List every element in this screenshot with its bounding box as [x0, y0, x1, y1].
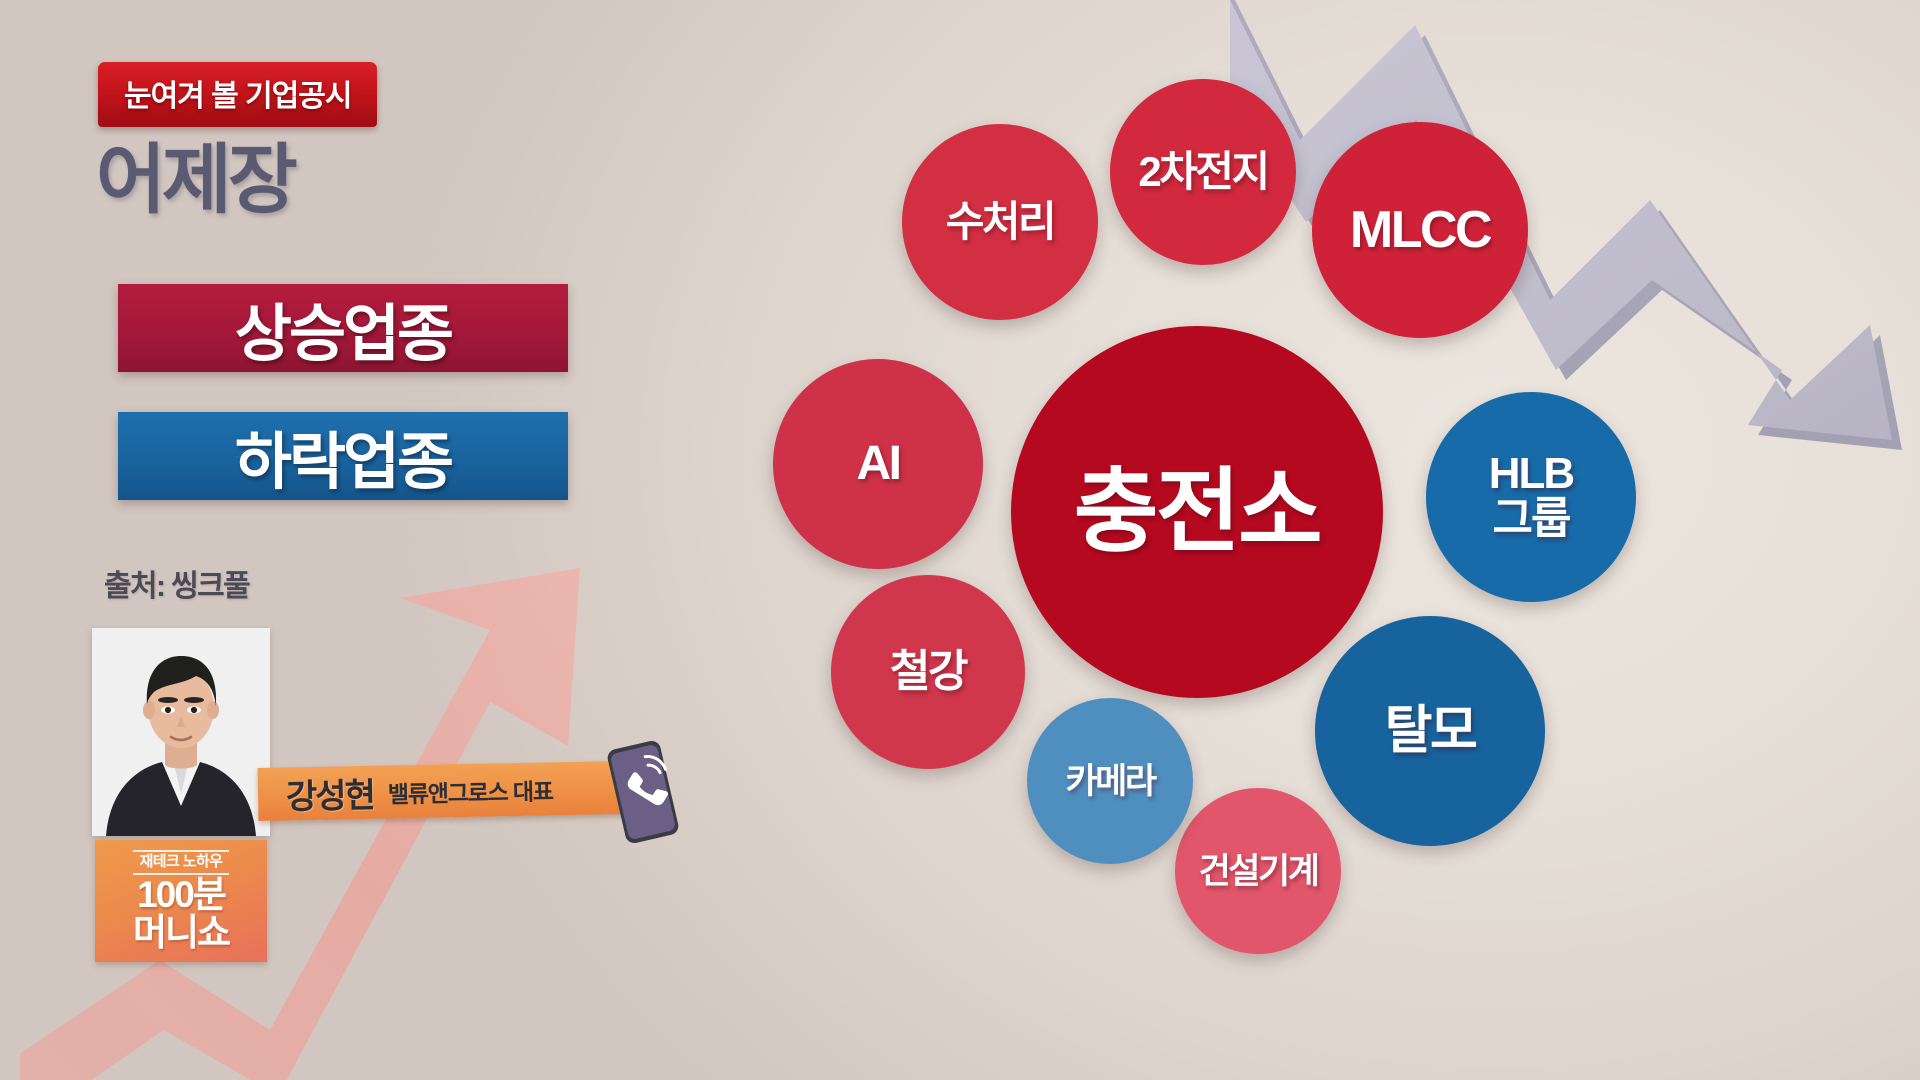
bubble-label: 수처리 — [940, 201, 1060, 243]
sector-bubble-chart: 수처리2차전지MLCCAI충전소철강건설기계HLB그룹탈모카메라 — [0, 0, 1920, 1080]
bubble-label: 건설기계 — [1193, 854, 1324, 889]
bubble-label: MLCC — [1344, 204, 1496, 256]
broadcast-graphic-stage: 눈여겨 볼 기업공시 어제장 상승업종 하락업종 출처: 씽크풀 — [0, 0, 1920, 1080]
bubble-label: 충전소 — [1068, 466, 1326, 558]
bubble-label: 탈모 — [1379, 705, 1482, 757]
bubble-8: HLB그룹 — [1426, 392, 1636, 602]
bubble-label: 철강 — [884, 650, 972, 694]
bubble-label: 카메라 — [1059, 764, 1160, 799]
bubble-1: 수처리 — [902, 124, 1098, 320]
bubble-9: 탈모 — [1315, 616, 1545, 846]
bubble-2: 2차전지 — [1110, 79, 1296, 265]
bubble-5: 충전소 — [1011, 326, 1383, 698]
bubble-label: 2차전지 — [1132, 151, 1273, 193]
bubble-4: AI — [773, 359, 983, 569]
bubble-label: AI — [851, 440, 906, 488]
bubble-3: MLCC — [1312, 122, 1528, 338]
bubble-6: 철강 — [831, 575, 1025, 769]
bubble-label: HLB그룹 — [1483, 452, 1579, 542]
bubble-10: 카메라 — [1027, 698, 1193, 864]
bubble-7: 건설기계 — [1175, 788, 1341, 954]
